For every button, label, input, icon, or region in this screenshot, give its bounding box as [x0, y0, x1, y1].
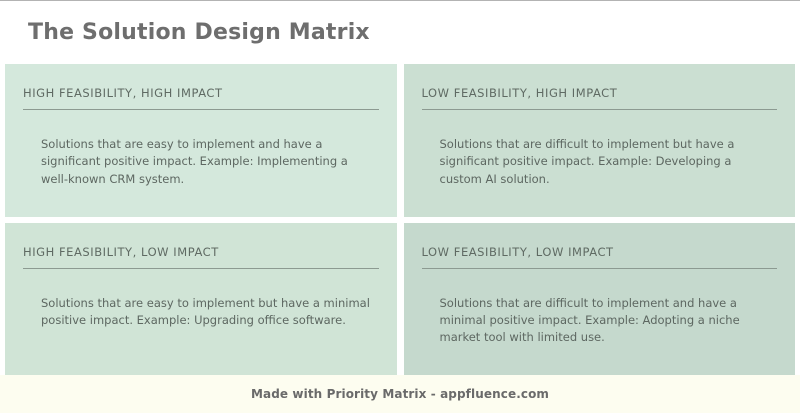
quadrant-header-low-feasibility-low-impact: LOW FEASIBILITY, LOW IMPACT [422, 245, 778, 269]
quadrant-low-feasibility-high-impact[interactable]: LOW FEASIBILITY, HIGH IMPACT Solutions t… [404, 64, 796, 217]
quadrant-header-low-feasibility-high-impact: LOW FEASIBILITY, HIGH IMPACT [422, 86, 778, 110]
quadrant-low-feasibility-low-impact[interactable]: LOW FEASIBILITY, LOW IMPACT Solutions th… [404, 223, 796, 376]
title-bar: The Solution Design Matrix [0, 1, 800, 64]
quadrant-body-low-feasibility-low-impact: Solutions that are difficult to implemen… [422, 295, 778, 347]
matrix-grid: HIGH FEASIBILITY, HIGH IMPACT Solutions … [0, 64, 800, 375]
page-title: The Solution Design Matrix [28, 20, 370, 45]
footer-bar: Made with Priority Matrix - appfluence.c… [0, 375, 800, 413]
quadrant-high-feasibility-high-impact[interactable]: HIGH FEASIBILITY, HIGH IMPACT Solutions … [5, 64, 397, 217]
quadrant-body-low-feasibility-high-impact: Solutions that are difficult to implemen… [422, 136, 778, 188]
quadrant-high-feasibility-low-impact[interactable]: HIGH FEASIBILITY, LOW IMPACT Solutions t… [5, 223, 397, 376]
quadrant-body-high-feasibility-high-impact: Solutions that are easy to implement and… [23, 136, 379, 188]
solution-design-matrix-page: The Solution Design Matrix HIGH FEASIBIL… [0, 0, 800, 413]
quadrant-body-high-feasibility-low-impact: Solutions that are easy to implement but… [23, 295, 379, 330]
quadrant-header-high-feasibility-low-impact: HIGH FEASIBILITY, LOW IMPACT [23, 245, 379, 269]
quadrant-header-high-feasibility-high-impact: HIGH FEASIBILITY, HIGH IMPACT [23, 86, 379, 110]
footer-attribution[interactable]: Made with Priority Matrix - appfluence.c… [251, 387, 549, 401]
